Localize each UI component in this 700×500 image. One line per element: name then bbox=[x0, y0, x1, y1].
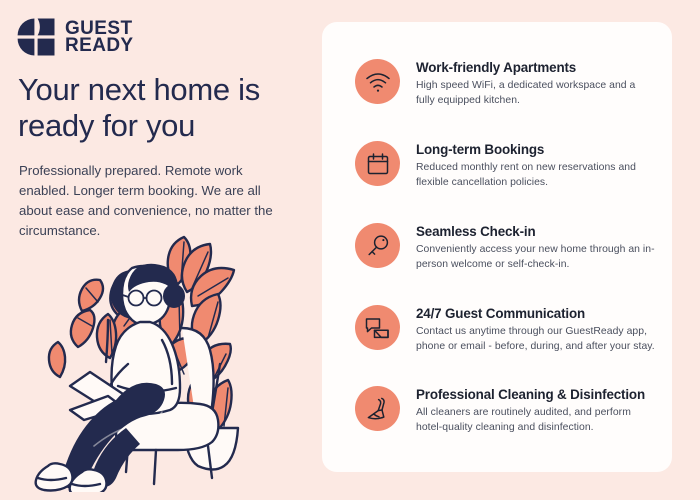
feature-text-block: 24/7 Guest Communication Contact us anyt… bbox=[400, 304, 655, 355]
feature-title: Work-friendly Apartments bbox=[416, 60, 655, 76]
brand-line-2: READY bbox=[65, 37, 134, 54]
chat-bubbles-icon bbox=[355, 305, 400, 350]
guestready-quadrant-logo-icon bbox=[16, 17, 56, 57]
feature-title: 24/7 Guest Communication bbox=[416, 306, 655, 322]
feature-text-block: Seamless Check-in Conveniently access yo… bbox=[400, 222, 655, 273]
feature-description: High speed WiFi, a dedicated workspace a… bbox=[416, 79, 655, 109]
feature-title: Seamless Check-in bbox=[416, 224, 655, 240]
brand-logo[interactable]: GUEST READY bbox=[16, 17, 134, 57]
feature-item-seamless-check-in[interactable]: Seamless Check-in Conveniently access yo… bbox=[355, 222, 655, 273]
key-icon bbox=[355, 223, 400, 268]
broom-icon bbox=[355, 386, 400, 431]
feature-description: All cleaners are routinely audited, and … bbox=[416, 406, 655, 436]
hero-column: GUEST READY Your next home is ready for … bbox=[0, 0, 318, 500]
features-card: Work-friendly Apartments High speed WiFi… bbox=[322, 22, 672, 472]
feature-description: Contact us anytime through our GuestRead… bbox=[416, 325, 655, 355]
page-headline: Your next home is ready for you bbox=[18, 72, 303, 144]
calendar-icon bbox=[355, 141, 400, 186]
feature-text-block: Long-term Bookings Reduced monthly rent … bbox=[400, 140, 655, 191]
hero-illustration bbox=[32, 222, 312, 492]
feature-item-long-term-bookings[interactable]: Long-term Bookings Reduced monthly rent … bbox=[355, 140, 655, 191]
feature-description: Reduced monthly rent on new reservations… bbox=[416, 161, 655, 191]
wifi-icon bbox=[355, 59, 400, 104]
feature-text-block: Work-friendly Apartments High speed WiFi… bbox=[400, 58, 655, 109]
feature-item-work-friendly-apartments[interactable]: Work-friendly Apartments High speed WiFi… bbox=[355, 58, 655, 109]
feature-item-guest-communication[interactable]: 24/7 Guest Communication Contact us anyt… bbox=[355, 304, 655, 355]
brand-wordmark: GUEST READY bbox=[65, 20, 134, 55]
feature-text-block: Professional Cleaning & Disinfection All… bbox=[400, 385, 655, 436]
marketing-page: GUEST READY Your next home is ready for … bbox=[0, 0, 700, 500]
feature-title: Professional Cleaning & Disinfection bbox=[416, 387, 655, 403]
feature-description: Conveniently access your new home throug… bbox=[416, 243, 655, 273]
woman-with-laptop-in-armchair-with-plants-icon bbox=[32, 222, 312, 492]
feature-item-professional-cleaning[interactable]: Professional Cleaning & Disinfection All… bbox=[355, 385, 655, 436]
feature-title: Long-term Bookings bbox=[416, 142, 655, 158]
